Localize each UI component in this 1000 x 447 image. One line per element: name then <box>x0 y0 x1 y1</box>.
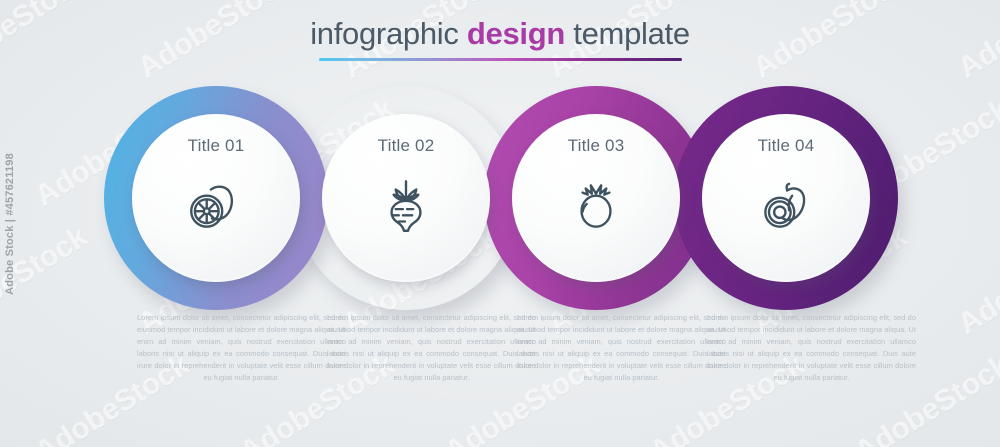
step-description-2: Lorem ipsum dolor sit amet, consectetur … <box>327 312 536 384</box>
step-title-4: Title 04 <box>758 136 815 156</box>
step-description-1: Lorem ipsum dolor sit amet, consectetur … <box>137 312 346 384</box>
step-title-3: Title 03 <box>568 136 625 156</box>
step-title-2: Title 02 <box>378 136 435 156</box>
step-description-4: Lorem ipsum dolor sit amet, consectetur … <box>707 312 916 384</box>
step-card-1[interactable]: Title 01 <box>132 114 300 282</box>
step-description-3: Lorem ipsum dolor sit amet, consectetur … <box>517 312 726 384</box>
heading-part-1: infographic <box>310 16 467 51</box>
pomegranate-icon <box>563 172 629 238</box>
peach-half-icon <box>753 172 819 238</box>
steps-circle-row: Title 01 Title 02 <box>0 86 1000 310</box>
step-card-4[interactable]: Title 04 <box>702 114 870 282</box>
infographic-canvas: AdobeStockAdobeStockAdobeStockAdobeStock… <box>0 0 1000 447</box>
kiwi-slice-icon <box>183 172 249 238</box>
heading-underline-rule <box>319 58 682 61</box>
stock-credit-label: Adobe Stock | #457621198 <box>4 153 16 295</box>
step-card-3[interactable]: Title 03 <box>512 114 680 282</box>
heading-part-3: template <box>565 16 690 51</box>
page-title: infographic design template <box>0 18 1000 61</box>
step-title-1: Title 01 <box>188 136 245 156</box>
beet-icon <box>373 172 439 238</box>
heading-text: infographic design template <box>0 18 1000 51</box>
heading-part-2-accent: design <box>467 16 565 51</box>
step-card-2[interactable]: Title 02 <box>322 114 490 282</box>
